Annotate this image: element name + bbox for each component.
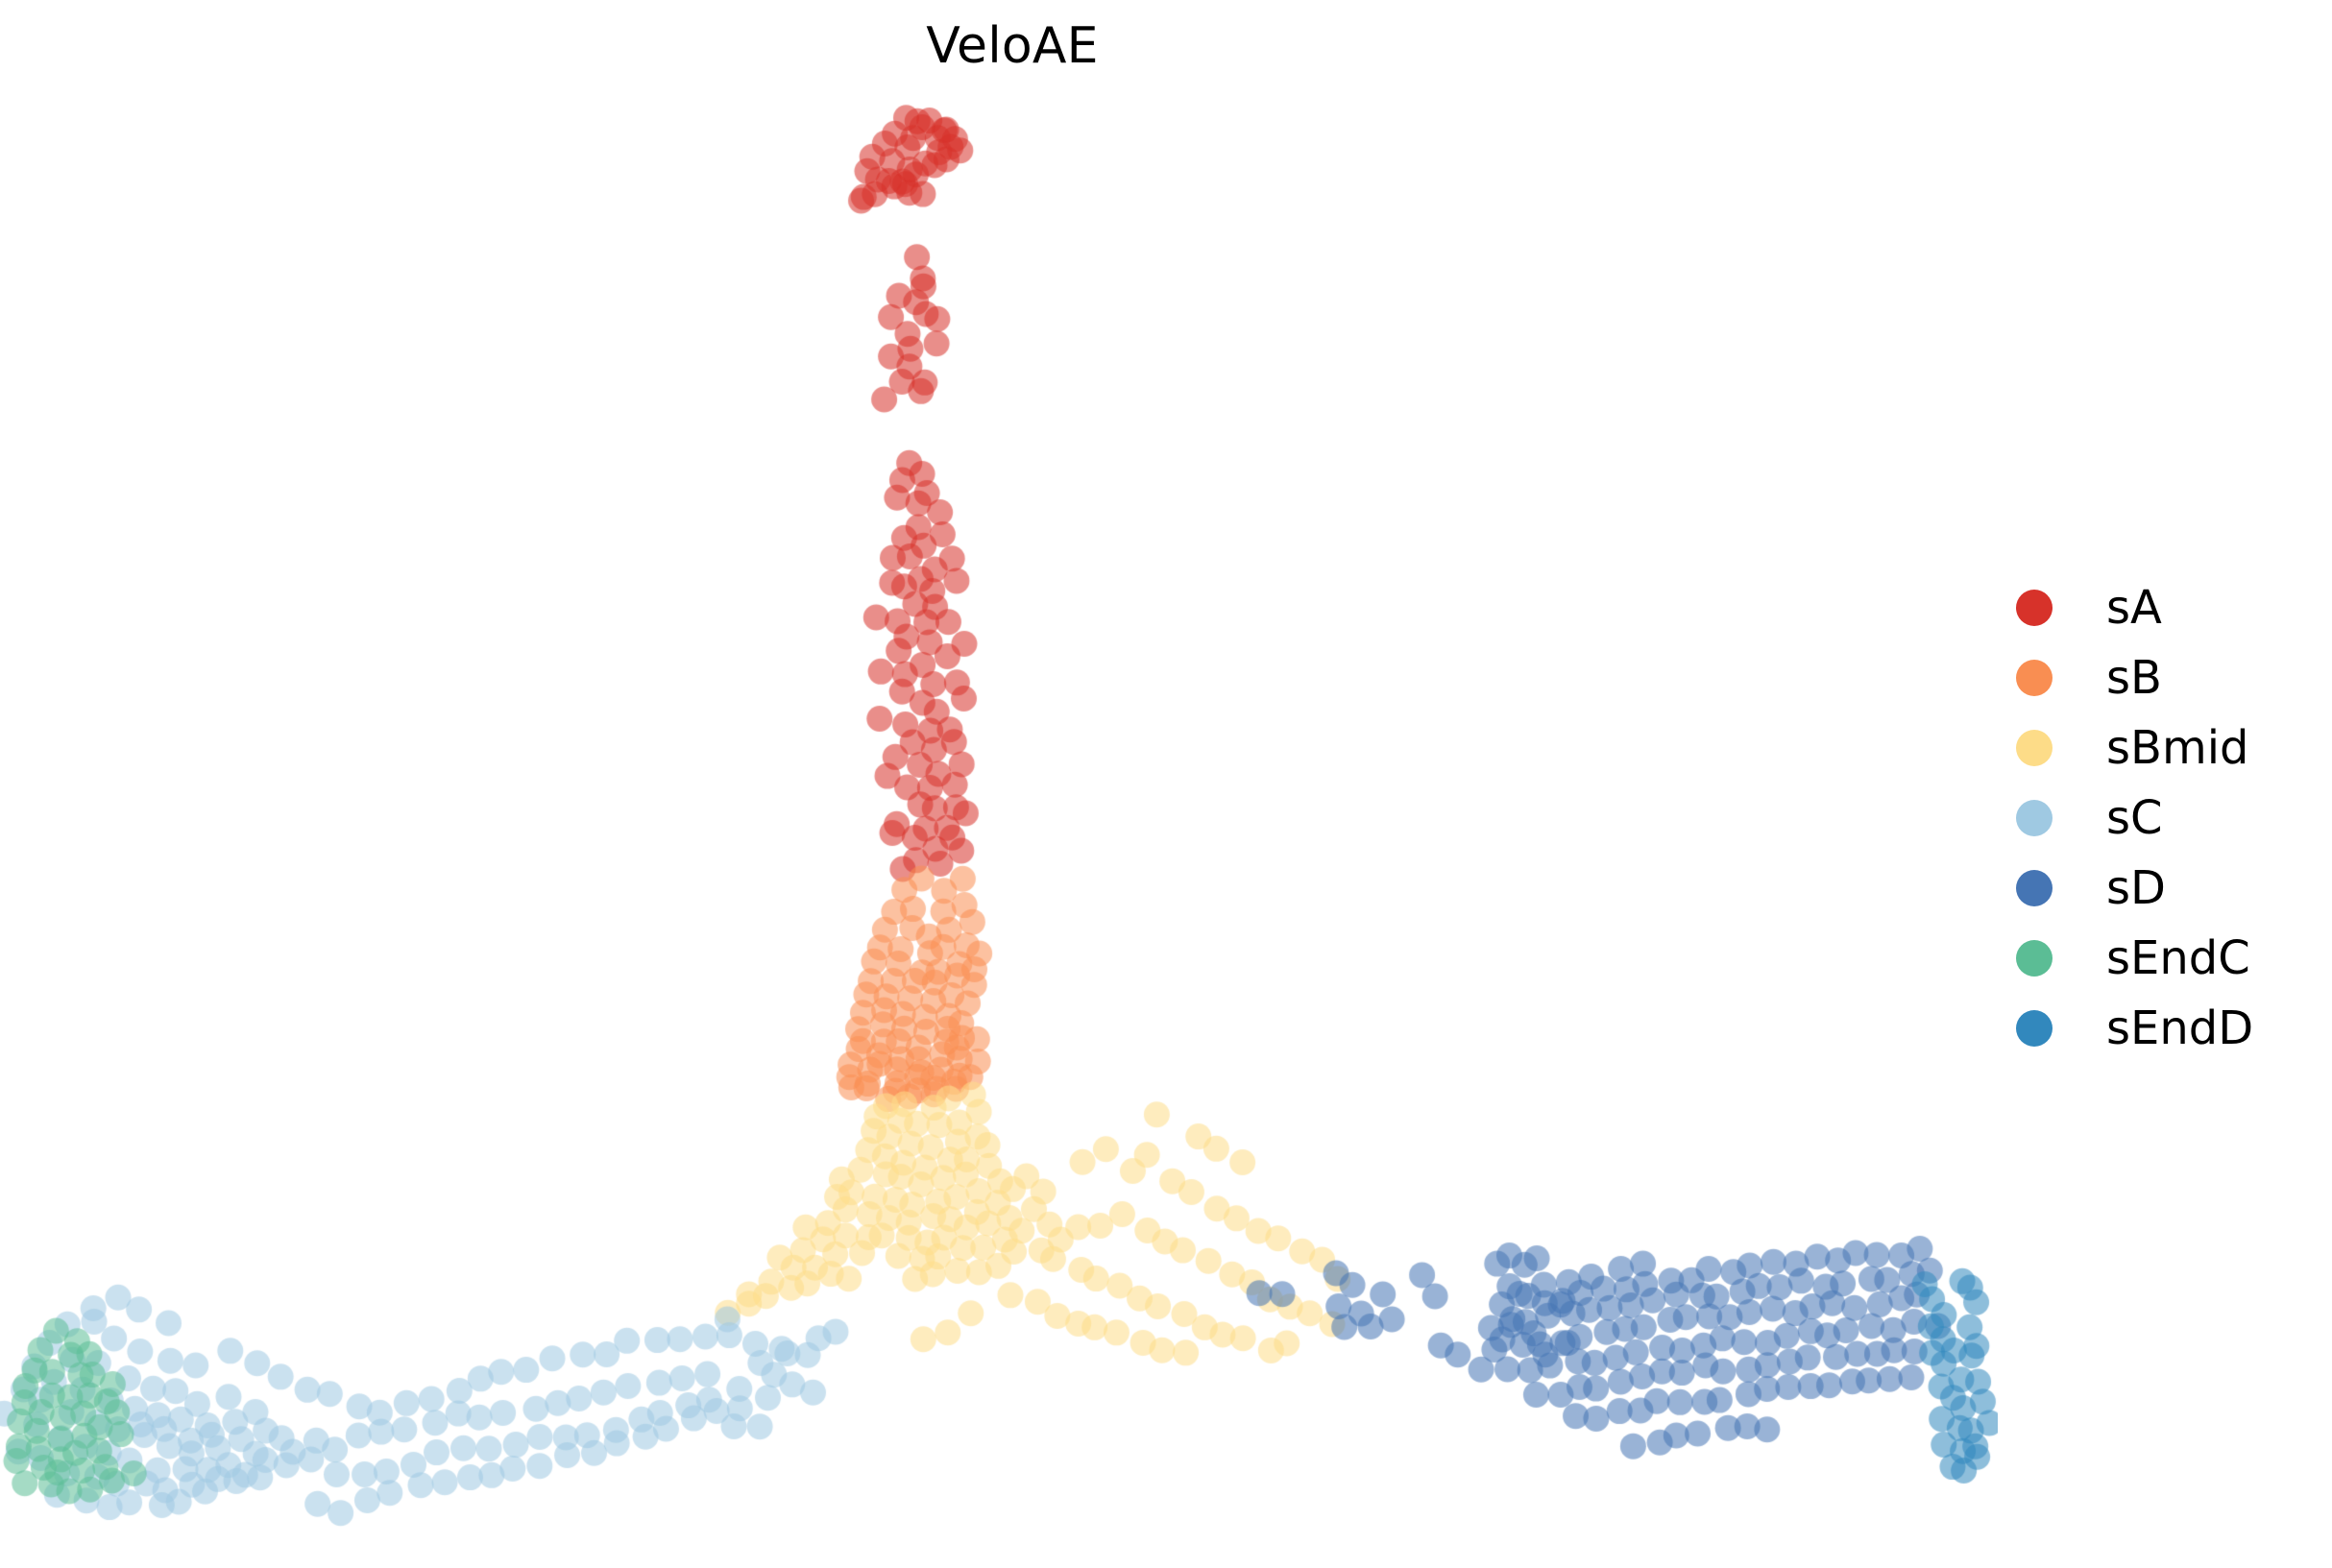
legend-marker-icon bbox=[2016, 730, 2053, 766]
legend-item[interactable]: sB bbox=[2012, 642, 2320, 712]
legend-item[interactable]: sC bbox=[2012, 783, 2320, 853]
legend-marker-icon bbox=[2016, 940, 2053, 977]
legend-item-label: sEndC bbox=[2106, 935, 2250, 981]
legend-marker-icon bbox=[2016, 870, 2053, 906]
legend-item[interactable]: sEndC bbox=[2012, 923, 2320, 993]
scatter-plot-canvas bbox=[0, 0, 1998, 1568]
legend-item-label: sBmid bbox=[2106, 725, 2249, 771]
legend: sA sB sBmid sC sD sEndC sEndD bbox=[2012, 572, 2320, 1063]
scatter-plot-axes bbox=[0, 0, 1998, 1568]
legend-item[interactable]: sEndD bbox=[2012, 993, 2320, 1063]
legend-item[interactable]: sD bbox=[2012, 853, 2320, 923]
legend-item-label: sC bbox=[2106, 795, 2163, 841]
legend-marker-icon bbox=[2016, 590, 2053, 626]
legend-marker-icon bbox=[2016, 1010, 2053, 1047]
figure-root: VeloAE sA sB sBmid sC sD sEndC bbox=[0, 0, 2332, 1568]
legend-marker-icon bbox=[2016, 660, 2053, 696]
legend-item-label: sEndD bbox=[2106, 1005, 2253, 1051]
legend-item-label: sA bbox=[2106, 585, 2162, 631]
legend-item[interactable]: sBmid bbox=[2012, 712, 2320, 783]
legend-item-label: sD bbox=[2106, 865, 2166, 911]
legend-item-label: sB bbox=[2106, 655, 2162, 701]
legend-item[interactable]: sA bbox=[2012, 572, 2320, 642]
legend-marker-icon bbox=[2016, 800, 2053, 836]
